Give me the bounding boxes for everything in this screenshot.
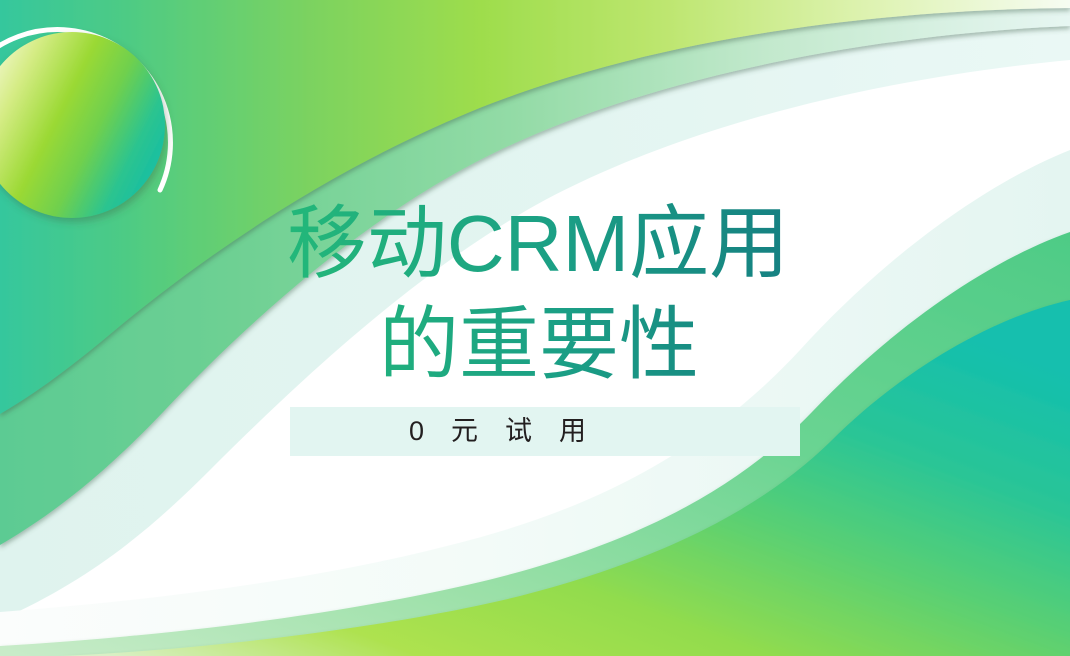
subtitle-banner: 0元试用 xyxy=(290,407,800,456)
title-line-2: 的重要性 xyxy=(8,294,1070,395)
slide-content: 移动CRM应用 的重要性 0元试用 xyxy=(0,0,1070,656)
title-line-1: 移动CRM应用 xyxy=(6,193,1070,294)
subtitle-text: 0元试用 xyxy=(290,418,613,445)
presentation-slide: 移动CRM应用 的重要性 0元试用 xyxy=(0,0,1070,656)
page-title: 移动CRM应用 的重要性 xyxy=(0,193,1070,395)
